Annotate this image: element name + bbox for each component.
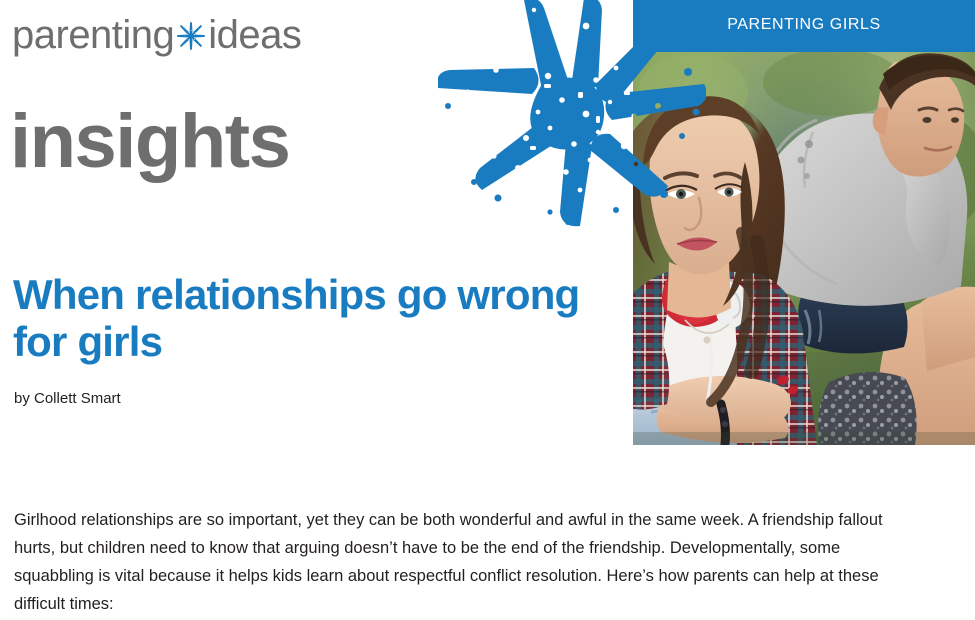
logo-word-ideas: ideas [208,15,301,55]
article-title: When relationships go wrong for girls [13,271,613,365]
category-label: PARENTING GIRLS [633,0,975,52]
parenting-ideas-logo: parenting [12,12,301,58]
category-banner: PARENTING GIRLS [633,0,975,52]
insights-newsletter-page: parenting [0,0,975,620]
page-title: insights [10,104,289,180]
asterisk-splat-icon [176,21,206,51]
hero-photo [633,52,975,445]
article-body: Girlhood relationships are so important,… [14,506,920,618]
article-byline: by Collett Smart [14,390,121,407]
logo-word-parenting: parenting [12,15,174,55]
